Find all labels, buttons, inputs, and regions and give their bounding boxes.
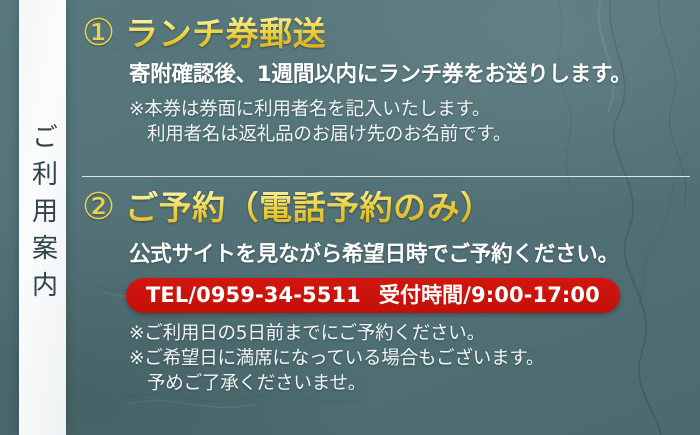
section-2-lead-text: 公式サイトを見ながら希望日時でご予約ください。	[129, 242, 700, 269]
section-1-notes: ※本券は券面に利用者名を記入いたします。 利用者名は返礼品のお届け先のお名前です…	[129, 98, 700, 148]
section-1-lead-text: 寄附確認後、1週間以内にランチ券をお送りします。	[129, 62, 700, 89]
section-1-note-1: ※本券は券面に利用者名を記入いたします。	[129, 98, 700, 123]
reception-hours: 受付時間/9:00-17:00	[379, 285, 600, 306]
section-2-note-1: ※ご利用日の5日前までにご予約ください。	[129, 322, 700, 347]
section-2-note-3: 予めご了承くださいませ。	[129, 372, 700, 397]
usage-guide-banner: ご利用案内 ① ランチ券郵送 寄附確認後、1週間以内にランチ券をお送りします。 …	[0, 0, 700, 435]
section-divider	[82, 176, 690, 177]
main-content: ① ランチ券郵送 寄附確認後、1週間以内にランチ券をお送りします。 ※本券は券面…	[82, 0, 700, 435]
section-2-notes: ※ご利用日の5日前までにご予約ください。 ※ご希望日に満席になっている場合もござ…	[129, 322, 700, 397]
section-lunch-ticket-mailing: ① ランチ券郵送 寄附確認後、1週間以内にランチ券をお送りします。 ※本券は券面…	[82, 14, 700, 148]
section-2-title: ご予約（電話予約のみ）	[125, 191, 494, 224]
section-2-note-2: ※ご希望日に満席になっている場合もございます。	[129, 347, 700, 372]
telephone-number[interactable]: TEL/0959-34-5511	[146, 285, 361, 306]
section-1-heading: ① ランチ券郵送	[82, 14, 700, 58]
sidebar-vertical-title-strip: ご利用案内	[19, 0, 66, 435]
sidebar-vertical-title: ご利用案内	[30, 123, 56, 308]
telephone-contact-badge[interactable]: TEL/0959-34-5511 受付時間/9:00-17:00	[126, 278, 620, 313]
section-2-number-icon: ②	[82, 188, 115, 225]
section-1-note-2: 利用者名は返礼品のお届け先のお名前です。	[129, 123, 700, 148]
section-reservation: ② ご予約（電話予約のみ） 公式サイトを見ながら希望日時でご予約ください。 TE…	[82, 188, 700, 397]
section-2-heading: ② ご予約（電話予約のみ）	[82, 188, 700, 232]
section-1-title: ランチ券郵送	[125, 17, 326, 50]
section-1-number-icon: ①	[82, 14, 115, 51]
